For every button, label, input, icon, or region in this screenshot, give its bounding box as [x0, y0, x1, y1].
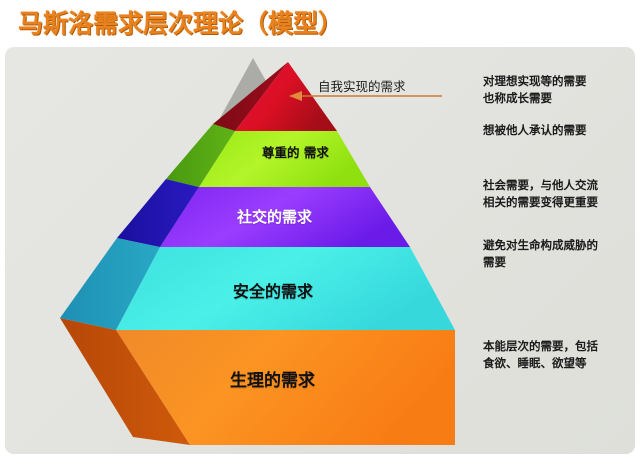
level-note-social: 社会需要，与他人交流 相关的需要变得更重要: [483, 177, 598, 211]
level-label-social: 社交的需求: [237, 206, 312, 227]
level-note-self-actualization: 对理想实现等的需要 也称成长需要: [483, 73, 587, 107]
pyramid-diagram: [0, 0, 640, 462]
level-note-safety: 避免对生命构成威胁的 需要: [483, 237, 598, 271]
level-label-safety: 安全的需求: [233, 278, 313, 302]
level-note-physiological: 本能层次的需要，包括 食欲、睡眠、欲望等: [483, 338, 598, 372]
level-note-esteem: 想被他人承认的需要: [483, 122, 587, 139]
level-label-esteem: 尊重的 需求: [262, 143, 322, 163]
level-label-physiological: 生理的需求: [230, 366, 315, 391]
level-label-self-actualization: 自我实现的需求: [318, 76, 406, 95]
